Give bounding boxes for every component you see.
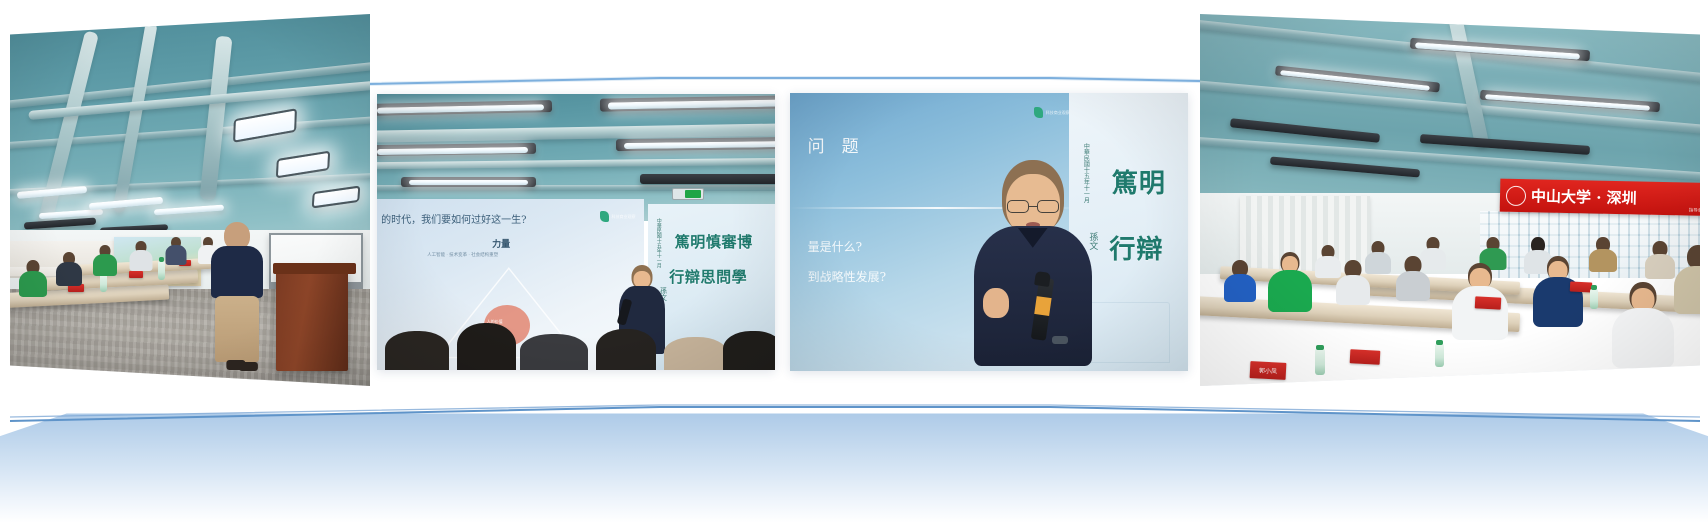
seated-attendee xyxy=(125,241,157,286)
glasses xyxy=(1007,200,1059,213)
gallery-photo-3[interactable]: 科技商业观察 问 题 量是什么? 到战略性发展? 中華民國十五年十一月 篤明 行… xyxy=(790,93,1188,371)
speaker-with-slide: 的时代，我们要如何过好这一生? 科技商业观察 力量 人工智能 · 技术变革 · … xyxy=(377,94,775,370)
audience-shot: 中山大学 · 深圳 企业家培 指导单位：深圳市 xyxy=(1200,14,1700,386)
slide-sub-note: 人工智能 · 技术变革 · 社会结构重塑 xyxy=(427,252,498,258)
seated-attendee xyxy=(1610,282,1675,371)
slide-question-2: 到战略性发展? xyxy=(808,268,886,285)
slide-question-1: 量是什么? xyxy=(808,238,862,255)
calligraphy-line-2: 行辯思問學 xyxy=(669,266,747,287)
seated-attendee xyxy=(1220,260,1260,308)
ceiling-fixture xyxy=(640,174,775,184)
slide-logo: 科技商业观察 xyxy=(600,211,636,222)
event-banner: 中山大学 · 深圳 企业家培 指导单位：深圳市 xyxy=(1500,179,1700,217)
banner-title: 中山大学 · 深圳 xyxy=(1531,186,1637,209)
podium-top xyxy=(273,263,356,274)
photo-gallery-stage: 的时代，我们要如何过好这一生? 科技商业观察 力量 人工智能 · 技术变革 · … xyxy=(0,0,1708,523)
speaker xyxy=(973,160,1092,371)
stage-floor-gradient xyxy=(0,404,1708,523)
gallery-photo-1[interactable] xyxy=(10,14,370,386)
audience-head xyxy=(520,334,588,370)
seated-attendee xyxy=(1390,256,1435,308)
gallery-photo-2[interactable]: 的时代，我们要如何过好这一生? 科技商业观察 力量 人工智能 · 技术变革 · … xyxy=(377,94,775,370)
instructor xyxy=(208,222,266,386)
slide-headline: 的时代，我们要如何过好这一生? xyxy=(381,211,526,226)
audience-head xyxy=(385,331,449,370)
seated-attendee xyxy=(1585,237,1620,278)
banner-bottom-right-text: 指导单位：深圳市 xyxy=(1689,208,1700,215)
desk-name-tag: 郭小凤 xyxy=(1250,361,1287,380)
audience-head xyxy=(596,329,656,370)
calligraphy-column: 中華民國十五年十一月 xyxy=(656,218,663,268)
desk-name-tag xyxy=(1570,281,1592,292)
water-bottle xyxy=(1435,344,1444,367)
wristwatch xyxy=(1052,336,1068,344)
audience-head xyxy=(723,331,775,370)
slide-logo-text: 科技商业观察 xyxy=(1046,110,1070,115)
water-bottle xyxy=(1315,349,1325,375)
hand xyxy=(983,288,1009,318)
seated-attendee xyxy=(17,260,49,305)
seated-attendee xyxy=(161,237,190,278)
audience-head xyxy=(664,337,728,370)
calligraphy-building-sketch xyxy=(1081,302,1170,363)
seated-attendee xyxy=(53,252,85,297)
exit-sign xyxy=(672,188,704,200)
seated-attendee xyxy=(1330,260,1375,312)
slide-logo-text: 科技商业观察 xyxy=(612,214,636,219)
name-tag-text: 郭小凤 xyxy=(1259,365,1277,375)
water-bottle xyxy=(1590,289,1598,309)
seated-attendee xyxy=(1265,252,1315,315)
desk-name-tag xyxy=(1475,296,1502,309)
speaker-closeup: 科技商业观察 问 题 量是什么? 到战略性发展? 中華民國十五年十一月 篤明 行… xyxy=(790,93,1188,371)
gallery-photo-4[interactable]: 中山大学 · 深圳 企业家培 指导单位：深圳市 xyxy=(1200,14,1700,386)
desk-name-tag xyxy=(1350,349,1381,365)
slide-logo: 科技商业观察 xyxy=(1034,107,1070,118)
slide-center-label: 力量 xyxy=(492,237,510,250)
seated-attendee xyxy=(89,245,121,290)
classroom-wide-shot xyxy=(10,14,370,386)
calligraphy-line-1: 篤明 xyxy=(1112,163,1166,200)
ceiling-tube-light xyxy=(409,180,528,185)
podium xyxy=(276,267,348,371)
mic-head xyxy=(1034,271,1051,287)
calligraphy-line-1: 篤明慎審博 xyxy=(675,231,753,252)
university-seal-icon xyxy=(1506,186,1526,206)
seated-attendee xyxy=(1670,245,1700,319)
slide-headline: 问 题 xyxy=(808,132,865,157)
calligraphy-line-2: 行辯 xyxy=(1109,229,1163,266)
audience-head xyxy=(457,323,517,370)
